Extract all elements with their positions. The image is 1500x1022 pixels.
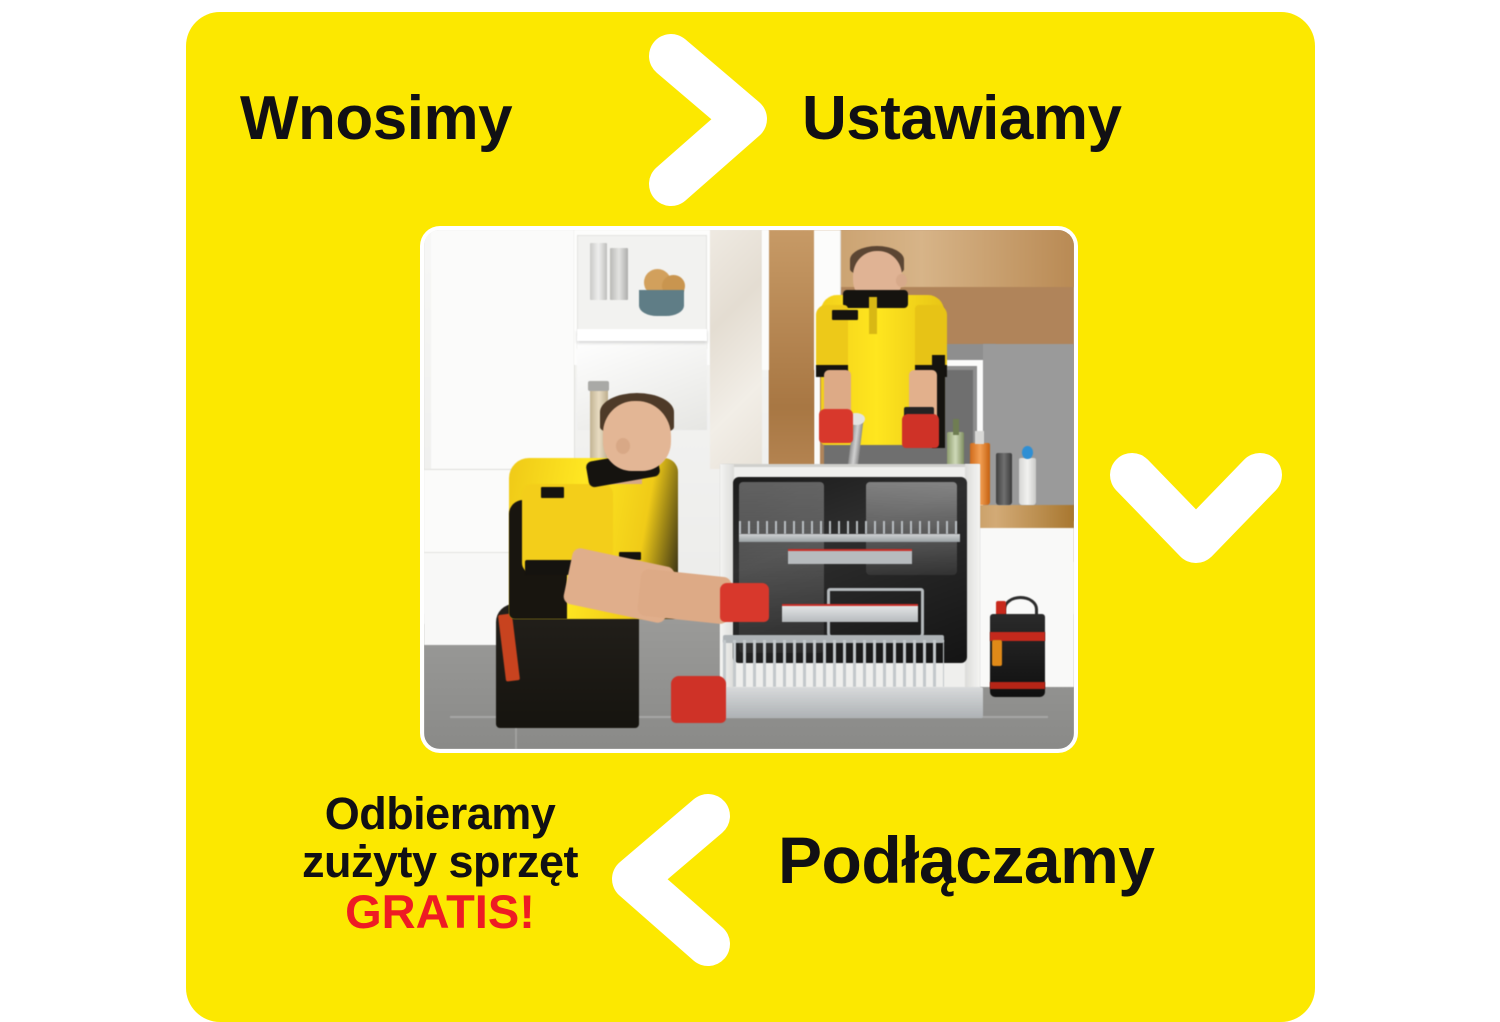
technician-2-glove-right <box>902 414 938 448</box>
chevron-left-icon <box>608 794 738 969</box>
step-label-ustawiamy: Ustawiamy <box>802 88 1121 150</box>
upper-cabinet-left <box>431 230 575 469</box>
service-photo-frame <box>420 226 1078 753</box>
dishwasher-upper-rack <box>739 534 960 542</box>
dishwasher-reflection-1 <box>739 482 824 653</box>
pasta-jar-lid <box>588 381 609 391</box>
tile-strip <box>710 230 762 469</box>
technician-2-ear <box>896 274 907 287</box>
pickup-offer-block: Odbieramy zużyty sprzęt GRATIS! <box>230 790 650 937</box>
service-photo <box>424 230 1074 749</box>
dishwasher-side-right <box>965 464 979 713</box>
dishwasher-open-door <box>710 687 983 718</box>
bread-bowl <box>639 290 685 316</box>
pepper-grinder <box>996 453 1012 505</box>
promo-card: Wnosimy Ustawiamy <box>186 12 1315 1022</box>
technician-1-ear <box>616 438 630 455</box>
technician-1-glove-left <box>671 676 726 723</box>
step-label-podlaczamy: Podłączamy <box>778 827 1155 893</box>
technician-1-forearm <box>636 568 731 624</box>
dishwasher-cutlery-tray <box>782 604 919 623</box>
shelf-plank <box>577 329 707 341</box>
salt-shaker <box>1019 458 1036 505</box>
shelf-jar-2 <box>610 248 628 300</box>
dishwasher-lower-rack <box>723 640 944 687</box>
technician-1-head <box>603 401 671 471</box>
technician-1-glove-right <box>720 583 769 622</box>
pickup-line-2: zużyty sprzęt <box>230 838 650 886</box>
technician-1-logo <box>541 487 564 498</box>
dishwasher-mid-rail <box>788 549 912 563</box>
technician-2-glove-left <box>819 409 853 443</box>
technician-2-logo <box>832 310 858 320</box>
step-label-wnosimy: Wnosimy <box>240 88 512 150</box>
chevron-right-icon <box>641 34 771 209</box>
toolbag-trim-bottom <box>990 682 1045 689</box>
toolbag-tool-orange <box>992 640 1002 666</box>
oil-bottle-neck <box>953 419 959 435</box>
pickup-line-1: Odbieramy <box>230 790 650 838</box>
poster-root: Wnosimy Ustawiamy <box>0 0 1500 1007</box>
pickup-free-badge: GRATIS! <box>230 887 650 937</box>
juice-bottle-cap <box>975 431 984 443</box>
technician-2-placket <box>869 297 877 333</box>
chevron-down-icon <box>1106 449 1286 579</box>
dishwasher-upper-rack-tines <box>739 521 960 534</box>
shelf-jar-1 <box>590 243 607 300</box>
